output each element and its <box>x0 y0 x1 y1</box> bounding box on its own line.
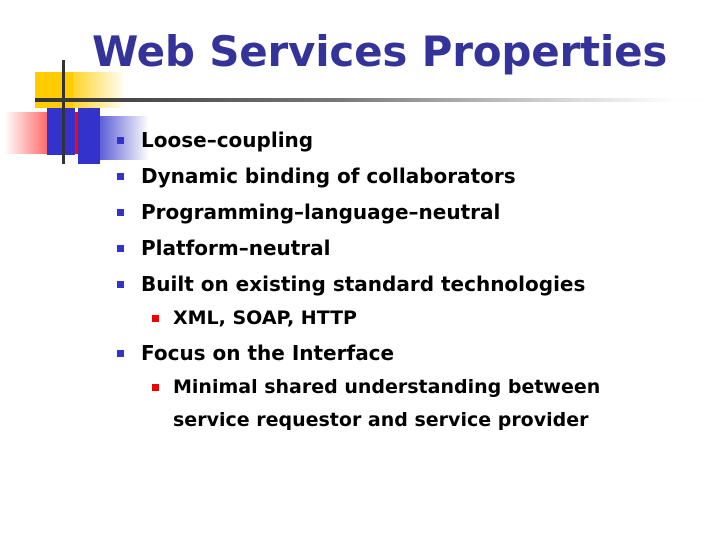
square-bullet-blue-icon <box>117 245 124 252</box>
square-bullet-blue-icon <box>117 281 124 288</box>
square-bullet-blue-icon <box>117 173 124 180</box>
square-bullet-blue-icon <box>117 209 124 216</box>
sub-list-item: XML, SOAP, HTTP <box>0 302 719 335</box>
sub-list-item-label: Minimal shared understanding between ser… <box>173 371 664 437</box>
list-item: Focus on the Interface <box>0 335 719 371</box>
slide-body: Loose–coupling Dynamic binding of collab… <box>0 122 719 437</box>
slide-canvas: Web Services Properties Loose–coupling D… <box>0 0 719 539</box>
sub-list-item-label: XML, SOAP, HTTP <box>173 302 664 335</box>
list-item-label: Loose–coupling <box>141 122 699 158</box>
list-item: Programming–language–neutral <box>0 194 719 230</box>
list-item-label: Platform–neutral <box>141 230 699 266</box>
square-bullet-blue-icon <box>117 137 124 144</box>
list-item: Built on existing standard technologies <box>0 266 719 302</box>
slide-title: Web Services Properties <box>92 26 652 78</box>
decoration-horizontal-rule <box>35 98 719 102</box>
list-item: Platform–neutral <box>0 230 719 266</box>
sub-list-item: Minimal shared understanding between ser… <box>0 371 719 437</box>
list-item: Dynamic binding of collaborators <box>0 158 719 194</box>
square-bullet-red-icon <box>152 315 159 322</box>
list-item-label: Dynamic binding of collaborators <box>141 158 699 194</box>
list-item-label: Programming–language–neutral <box>141 194 699 230</box>
list-item: Loose–coupling <box>0 122 719 158</box>
list-item-label: Built on existing standard technologies <box>141 266 699 302</box>
square-bullet-red-icon <box>152 384 159 391</box>
decoration-yellow-square <box>35 72 73 108</box>
square-bullet-blue-icon <box>117 350 124 357</box>
list-item-label: Focus on the Interface <box>141 335 699 371</box>
